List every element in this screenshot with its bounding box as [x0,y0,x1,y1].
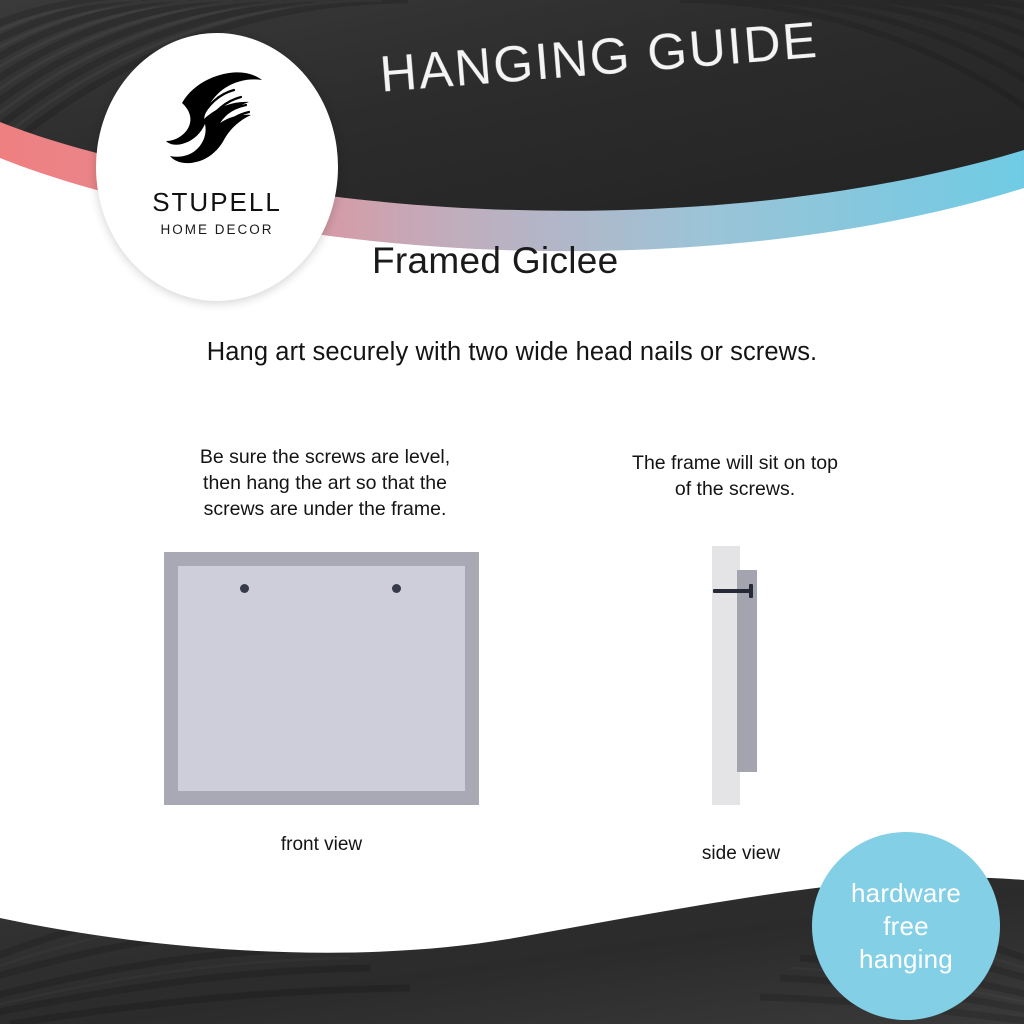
brand-name: STUPELL [152,187,282,218]
front-view-diagram [164,552,479,805]
nail-head-icon [749,584,753,598]
caption-line: then hang the art so that the [140,470,510,496]
page-title: HANGING GUIDE [378,10,821,104]
caption-line: Be sure the screws are level, [140,444,510,470]
stupell-swoosh-logo-icon [157,61,277,181]
brand-tagline: HOME DECOR [160,222,273,237]
wall-surface [712,546,740,805]
brand-logo-badge: STUPELL HOME DECOR [96,33,338,301]
nail-shaft-icon [713,589,751,593]
side-view-label: side view [656,843,826,865]
front-view-caption: Be sure the screws are level, then hang … [140,444,510,522]
side-view-caption: The frame will sit on top of the screws. [580,450,890,502]
badge-line: hanging [859,943,953,976]
front-view-panel: Be sure the screws are level, then hang … [140,444,510,522]
product-subtitle: Framed Giclee [372,240,619,282]
screw-dot-left-icon [240,584,249,593]
hanging-guide-page: STUPELL HOME DECOR HANGING GUIDE Framed … [0,0,1024,1024]
badge-line: free [883,910,929,943]
caption-line: of the screws. [580,476,890,502]
screw-dot-right-icon [392,584,401,593]
side-view-diagram [706,546,776,806]
badge-line: hardware [851,877,961,910]
front-view-label: front view [164,834,479,856]
main-instruction: Hang art securely with two wide head nai… [0,338,1024,367]
caption-line: screws are under the frame. [140,496,510,522]
side-view-panel: The frame will sit on top of the screws. [580,450,890,502]
frame-profile [737,570,757,772]
caption-line: The frame will sit on top [580,450,890,476]
frame-artwork-area [178,566,465,791]
hardware-free-hanging-badge: hardware free hanging [812,832,1000,1020]
